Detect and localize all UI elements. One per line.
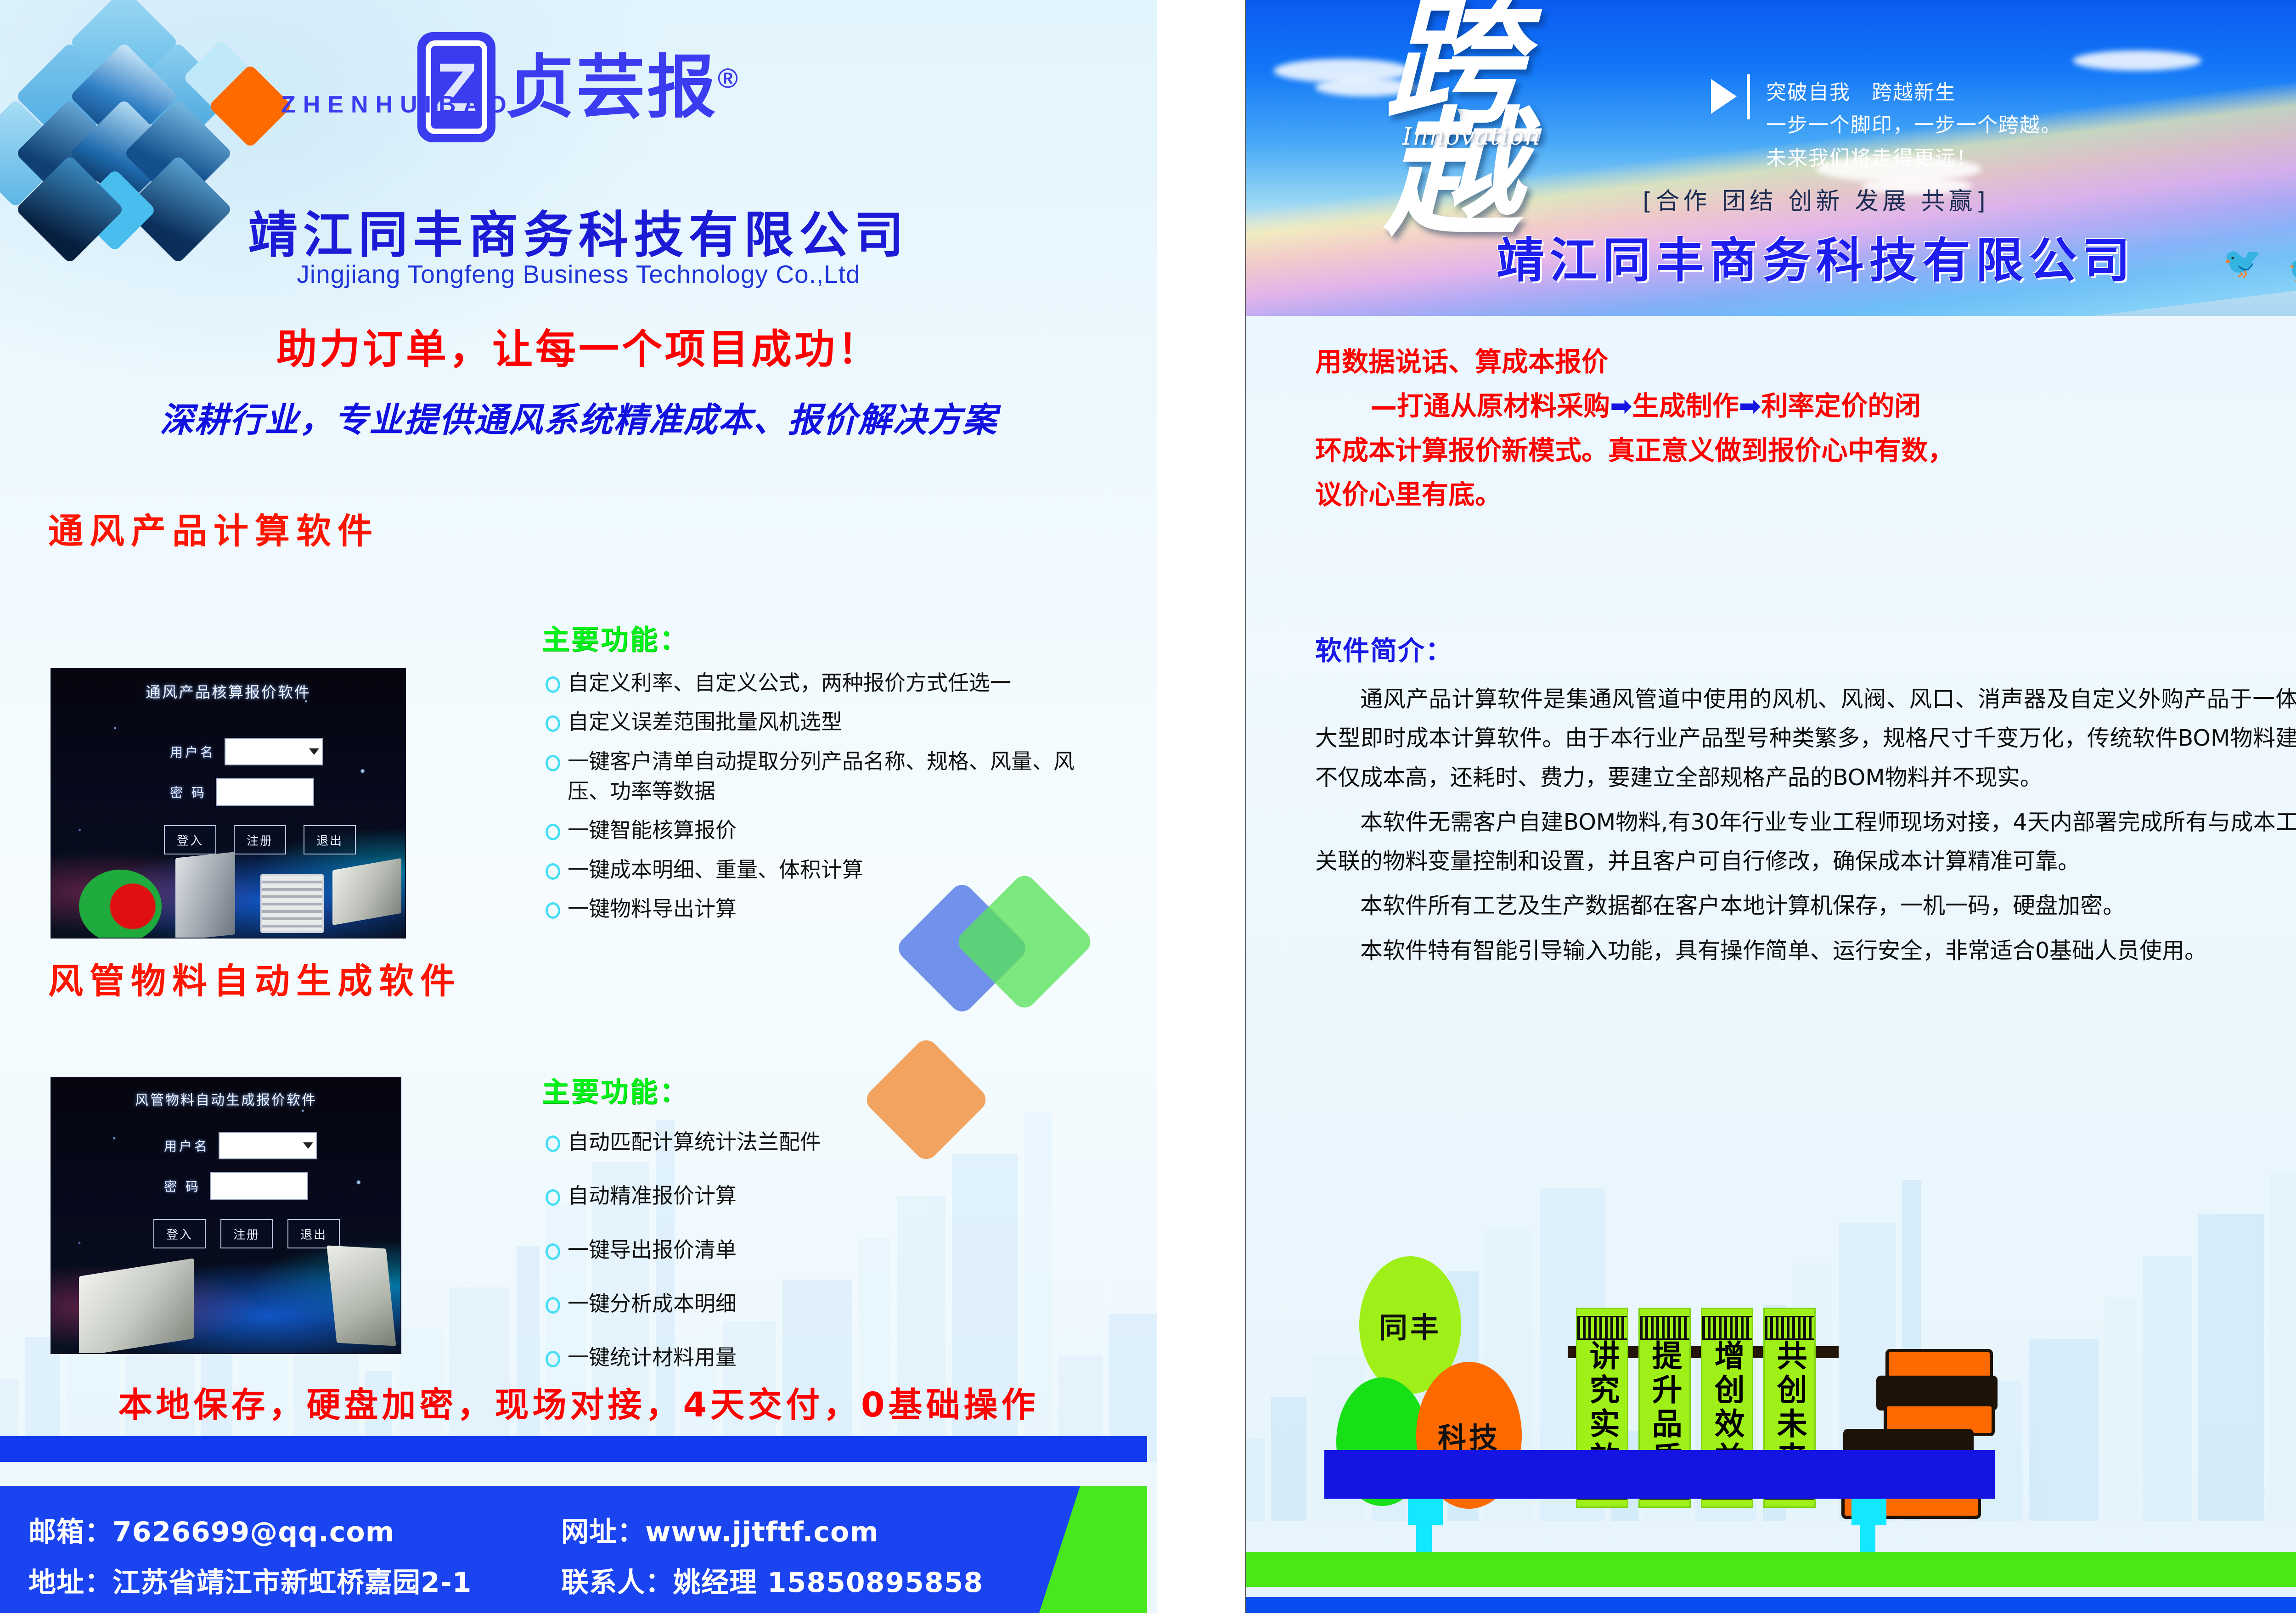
blue-divider-rule <box>0 1436 1147 1462</box>
footer-green-wedge <box>1039 1486 1147 1613</box>
screenshot2-password-label: 密 码 <box>164 1177 201 1195</box>
screenshot1-exit-button[interactable]: 退出 <box>304 825 356 854</box>
bottom-claim: 本地保存，硬盘加密，现场对接，4天交付，0基础操作 <box>0 1377 1157 1427</box>
building-silhouette <box>2143 1256 2192 1521</box>
building-silhouette <box>2105 1298 2137 1521</box>
screenshot1-app-title: 通风产品核算报价软件 <box>51 680 405 702</box>
footer-email-value: 7626699@qq.com <box>113 1516 394 1548</box>
product-silencer-image <box>175 852 235 939</box>
section2-title: 风管物料自动生成软件 <box>48 953 461 1003</box>
screenshot1-password-row: 密 码 <box>170 778 314 806</box>
brand-logo: Z 贞芸报® <box>202 25 955 149</box>
red-headline-line3: 环成本计算报价新模式。真正意义做到报价心中有数， <box>1315 428 2296 472</box>
header-divider-bar <box>1747 74 1750 119</box>
intro-paragraph: 通风产品计算软件是集通风管道中使用的风机、风阀、风口、消声器及自定义外购产品于一… <box>1315 680 2296 797</box>
footer-contact-label: 联系人： <box>561 1567 673 1599</box>
shelf-leg-right-stem <box>1860 1499 1875 1553</box>
list-item: 一键导出报价清单 <box>542 1235 1107 1265</box>
scroll-cap-top-2 <box>1640 1316 1689 1340</box>
red-headline-line2: —打通从原材料采购➡生成制作➡利率定价的闭 <box>1315 384 2296 428</box>
building-silhouette <box>2198 1214 2264 1521</box>
footer-email[interactable]: 邮箱：7626699@qq.com <box>28 1510 394 1550</box>
left-page: Z 贞芸报® ZHENHUIBAO 靖江同丰商务科技有限公司 Jingjiang… <box>0 0 1157 1613</box>
list-item: 自动匹配计算统计法兰配件 <box>542 1127 1107 1157</box>
header-tagline-1: 突破自我 跨越新生 <box>1766 76 2062 109</box>
footer-email-label: 邮箱： <box>28 1516 113 1548</box>
section2-feature-list: 自动匹配计算统计法兰配件 自动精准报价计算 一键导出报价清单 一键分析成本明细 … <box>542 1127 1107 1382</box>
footer-green-strip <box>1246 1552 2296 1587</box>
corporate-motto: [合作 团结 创新 发展 共赢] <box>1246 182 2296 216</box>
screenshot2-login-button[interactable]: 登入 <box>153 1219 206 1248</box>
footer-addr-value: 江苏省靖江市新虹桥嘉园2-1 <box>113 1567 472 1599</box>
footer-addr-label: 地址： <box>28 1567 113 1599</box>
company-name-en: Jingjiang Tongfeng Business Technology C… <box>0 259 1157 289</box>
logo-inner-frame: Z <box>426 40 487 134</box>
screenshot1-username-input[interactable] <box>225 738 323 765</box>
scroll-cap-top-3 <box>1702 1316 1752 1340</box>
right-page: 跨越 Innovation 突破自我 跨越新生 一步一个脚印，一步一个跨越。 未… <box>1245 0 2296 1613</box>
section2-app-screenshot: 风管物料自动生成报价软件 用户名 密 码 登入 注册 退出 <box>51 1077 401 1354</box>
product-duct-right-image <box>326 1245 396 1346</box>
screenshot1-button-row: 登入 注册 退出 <box>164 825 356 854</box>
cloud-5-icon <box>2073 51 2201 71</box>
shelf-leg-left-stem <box>1416 1499 1432 1553</box>
list-item: 一键智能核算报价 <box>542 815 1107 845</box>
list-item: 自定义误差范围批量风机选型 <box>542 707 1107 737</box>
screenshot1-login-button[interactable]: 登入 <box>164 825 216 854</box>
slogan-primary: 助力订单，让每一个项目成功！ <box>0 317 1157 375</box>
red-line2-part-a: —打通从原材料采购 <box>1370 390 1610 422</box>
screenshot1-password-label: 密 码 <box>170 783 207 801</box>
screenshot2-button-row: 登入 注册 退出 <box>153 1219 340 1248</box>
header-tagline-2: 一步一个脚印，一步一个跨越。 <box>1766 109 2062 141</box>
section1-app-screenshot: 通风产品核算报价软件 用户名 密 码 登入 注册 退出 <box>51 668 406 939</box>
screenshot2-password-row: 密 码 <box>164 1172 308 1200</box>
screenshot2-password-input[interactable] <box>210 1172 308 1200</box>
footer-website[interactable]: 网址：www.jjtftf.com <box>561 1510 879 1550</box>
red-line2-part-c: 利率定价的闭 <box>1761 390 1921 422</box>
play-triangle-icon <box>1711 79 1737 114</box>
list-item: 一键分析成本明细 <box>542 1289 1107 1319</box>
screenshot2-exit-button[interactable]: 退出 <box>287 1219 340 1248</box>
screenshot2-app-title: 风管物料自动生成报价软件 <box>51 1089 400 1109</box>
building-silhouette <box>2029 1339 2099 1521</box>
intro-paragraph: 本软件所有工艺及生产数据都在客户本地计算机保存，一机一码，硬盘加密。 <box>1315 886 2296 925</box>
shelf-board <box>1324 1450 1995 1499</box>
company-name-cn: 靖江同丰商务科技有限公司 <box>0 195 1157 267</box>
list-item: 自定义利率、自定义公式，两种报价方式任选一 <box>542 668 1107 698</box>
arrow-right-icon-2: ➡ <box>1739 390 1761 422</box>
slogan-secondary: 深耕行业，专业提供通风系统精准成本、报价解决方案 <box>0 393 1157 442</box>
calligraphy-subtitle: Innovation <box>1402 123 1541 151</box>
screenshot1-password-input[interactable] <box>216 778 314 806</box>
product-fan-image <box>79 870 162 939</box>
section1-title: 通风产品计算软件 <box>48 503 379 553</box>
screenshot1-register-button[interactable]: 注册 <box>234 825 286 854</box>
scroll-cap-top-4 <box>1765 1316 1814 1340</box>
screenshot1-username-row: 用户名 <box>170 738 323 765</box>
intro-body: 通风产品计算软件是集通风管道中使用的风机、风阀、风口、消声器及自定义外购产品于一… <box>1315 680 2296 976</box>
registered-mark-icon: ® <box>718 63 740 94</box>
building-silhouette <box>1271 1397 1306 1521</box>
right-company-name: 靖江同丰商务科技有限公司 <box>1246 221 2296 291</box>
left-footer: 邮箱：7626699@qq.com 网址：www.jjtftf.com 地址：江… <box>0 1486 1147 1613</box>
screenshot2-username-label: 用户名 <box>164 1136 209 1155</box>
building-silhouette <box>449 1287 510 1461</box>
screenshot2-username-row: 用户名 <box>164 1132 317 1159</box>
logo-chinese-name: 贞芸报® <box>506 53 740 122</box>
arrow-right-icon-1: ➡ <box>1610 390 1632 422</box>
screenshot2-username-input[interactable] <box>219 1132 317 1159</box>
header-tagline-block: 突破自我 跨越新生 一步一个脚印，一步一个跨越。 未来我们将走得更远！ <box>1766 76 2062 174</box>
footer-contact-value: 姚经理 15850895858 <box>673 1567 983 1599</box>
building-silhouette <box>517 1246 540 1461</box>
building-silhouette <box>1246 1439 1265 1521</box>
building-silhouette <box>2270 1172 2296 1521</box>
red-headline-line4: 议价心里有底。 <box>1315 472 2296 517</box>
logo-latin-name: ZHENHUIBAO <box>281 91 514 118</box>
header-tagline-3: 未来我们将走得更远！ <box>1766 142 2062 174</box>
section2-features-heading: 主要功能： <box>542 1070 689 1110</box>
list-item: 一键统计材料用量 <box>542 1343 1107 1372</box>
logo-mark-icon: Z <box>417 32 495 142</box>
section1-features-heading: 主要功能： <box>542 618 689 658</box>
intro-heading: 软件简介： <box>1315 629 1453 668</box>
right-page-header: 跨越 Innovation 突破自我 跨越新生 一步一个脚印，一步一个跨越。 未… <box>1246 0 2296 316</box>
red-line2-part-b: 生成制作 <box>1632 390 1739 422</box>
red-headline-block: 用数据说话、算成本报价 —打通从原材料采购➡生成制作➡利率定价的闭 环成本计算报… <box>1315 340 2296 517</box>
footer-site-label: 网址： <box>561 1516 645 1548</box>
red-headline-line1: 用数据说话、算成本报价 <box>1315 340 2296 384</box>
intro-paragraph: 本软件特有智能引导输入功能，具有操作简单、运行安全，非常适合0基础人员使用。 <box>1315 931 2296 970</box>
list-item: 自动精准报价计算 <box>542 1181 1107 1211</box>
intro-paragraph: 本软件无需客户自建BOM物料,有30年行业专业工程师现场对接，4天内部署完成所有… <box>1315 803 2296 881</box>
scroll-cap-top-1 <box>1577 1316 1627 1340</box>
product-louver-image <box>260 874 324 933</box>
footer-blue-strip <box>1246 1597 2296 1613</box>
screenshot2-register-button[interactable]: 注册 <box>220 1219 273 1248</box>
poster-canvas: Z 贞芸报® ZHENHUIBAO 靖江同丰商务科技有限公司 Jingjiang… <box>0 0 2296 1613</box>
footer-address: 地址：江苏省靖江市新虹桥嘉园2-1 <box>28 1560 472 1600</box>
footer-contact: 联系人：姚经理 15850895858 <box>561 1560 983 1600</box>
list-item: 一键客户清单自动提取分列产品名称、规格、风量、风压、功率等数据 <box>542 747 1107 807</box>
screenshot1-username-label: 用户名 <box>170 742 215 761</box>
footer-site-value: www.jjtftf.com <box>645 1516 879 1548</box>
